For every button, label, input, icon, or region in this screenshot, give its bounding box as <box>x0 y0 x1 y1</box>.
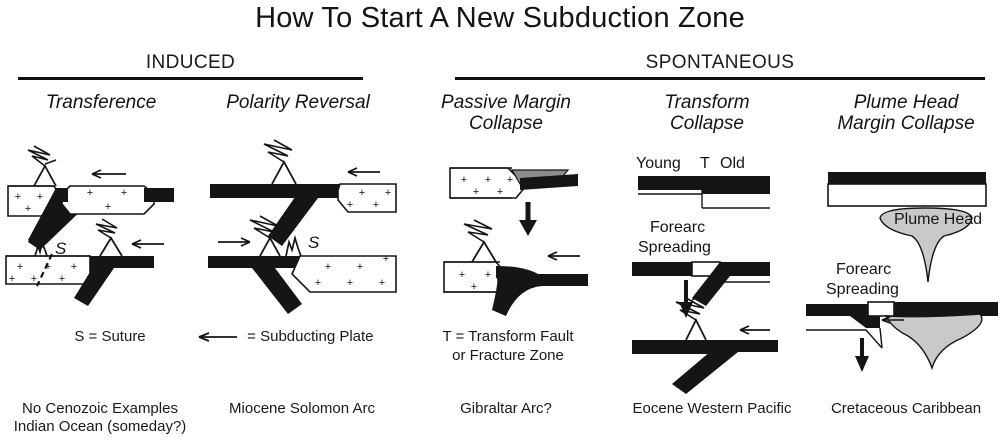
plus-symbol: + <box>37 191 43 203</box>
overriding-plate-right <box>894 302 998 316</box>
subducting-plate-arrow-icon <box>92 170 126 178</box>
volcanic-arc-icon <box>272 162 296 184</box>
column-heading-plume-head-line1: Plume Head <box>812 92 1000 113</box>
column-heading-passive-margin-line1: Passive Margin <box>408 92 604 113</box>
eruption-plume-icon <box>96 219 117 238</box>
passive-margin-stage-2: + + + <box>444 220 588 316</box>
collapse-arrow-icon <box>855 338 869 372</box>
diagram-plume-head-margin-collapse: Plume Head Forearc Spreading <box>812 152 1000 372</box>
category-label-induced: INDUCED <box>18 52 363 74</box>
diagram-transform-collapse: Young T Old Forearc Spreading <box>614 150 810 380</box>
legend-transform-text-line2: or Fracture Zone <box>410 347 606 366</box>
plus-symbol: + <box>347 277 353 289</box>
plus-symbol: + <box>17 261 23 273</box>
plus-symbol: + <box>459 269 465 281</box>
legend-suture-symbol: S <box>74 328 84 345</box>
mantle-lithosphere <box>828 184 986 206</box>
plus-symbol: + <box>59 273 65 285</box>
suture-label: S <box>55 239 67 258</box>
arrow-left-icon <box>195 330 239 344</box>
plus-symbol: + <box>373 199 379 211</box>
transform-collapse-stage-3 <box>632 298 778 394</box>
caption-polarity-reversal-line1: Miocene Solomon Arc <box>204 400 400 418</box>
forearc-label-line2: Spreading <box>826 281 899 298</box>
plus-symbol: + <box>485 174 491 186</box>
lithosphere-plate <box>828 172 986 184</box>
legend-suture-text: = Suture <box>89 328 146 345</box>
plus-symbol: + <box>325 261 331 273</box>
slab-horizontal <box>90 256 154 268</box>
subducting-plate-arrow-icon <box>740 326 770 334</box>
eruption-plume-icon <box>264 140 292 162</box>
collapse-arrow-icon <box>519 202 537 236</box>
forearc-spreading-gap <box>868 302 894 316</box>
slab-edge-line <box>880 328 882 348</box>
column-heading-polarity-reversal-line1: Polarity Reversal <box>205 92 391 113</box>
caption-transference-line1: No Cenozoic Examples <box>2 400 198 418</box>
plume-spread-shape <box>886 314 982 368</box>
plus-symbol: + <box>9 273 15 285</box>
subducting-plate-arrow-icon <box>218 238 250 246</box>
column-heading-transference-line1: Transference <box>8 92 194 113</box>
plus-symbol: + <box>121 187 127 199</box>
plus-symbol: + <box>105 201 111 213</box>
transference-stage-2: S + + + + + + <box>6 219 164 306</box>
suture-label: S <box>308 233 320 252</box>
volcanic-arc-icon <box>34 166 56 186</box>
column-heading-transform-collapse-line1: Transform <box>614 92 800 113</box>
page-title: How To Start A New Subduction Zone <box>0 2 1000 35</box>
plus-symbol: + <box>359 187 365 199</box>
volcanic-arc-icon <box>100 238 122 256</box>
category-label-spontaneous: SPONTANEOUS <box>455 52 985 74</box>
caption-transference-line2: Indian Ocean (someday?) <box>2 418 198 436</box>
category-rule-induced <box>18 77 363 80</box>
plus-symbol: + <box>471 281 477 293</box>
plus-symbol: + <box>379 277 385 289</box>
category-rule-spontaneous <box>455 77 985 80</box>
old-plate <box>702 176 770 194</box>
plus-symbol: + <box>25 203 31 215</box>
transform-collapse-stage-1 <box>638 176 770 208</box>
eruption-plume-icon <box>464 220 492 242</box>
plus-symbol: + <box>87 187 93 199</box>
transform-collapse-stage-2 <box>632 262 770 318</box>
column-heading-passive-margin-line2: Collapse <box>408 113 604 134</box>
plus-symbol: + <box>507 174 513 186</box>
subducting-plate-arrow-icon <box>548 252 580 260</box>
diagram-passive-margin-collapse: + + + + + + + + <box>408 152 608 317</box>
legend-subducting-plate: = Subducting Plate <box>195 328 425 347</box>
new-subducting-slab <box>492 266 588 316</box>
label-old: Old <box>720 155 745 172</box>
plus-symbol: + <box>15 191 21 203</box>
plus-symbol: + <box>385 187 391 199</box>
column-heading-plume-head-line2: Margin Collapse <box>812 113 1000 134</box>
plus-symbol: + <box>497 186 503 198</box>
plus-symbol: + <box>347 199 353 211</box>
forearc-label-line2: Spreading <box>638 239 711 256</box>
polarity-reversal-stage-1: + + + + <box>210 140 396 246</box>
eruption-plume-icon <box>28 146 56 166</box>
plus-symbol: + <box>71 261 77 273</box>
volcanic-arc-icon <box>472 242 496 262</box>
plus-symbol: + <box>45 261 51 273</box>
forearc-label-line1: Forearc <box>836 261 891 278</box>
legend-subducting-plate-text: = Subducting Plate <box>247 328 373 345</box>
slab-segment-right <box>144 188 174 202</box>
label-young: Young <box>636 155 681 172</box>
legend-transform-symbol: T <box>442 328 451 345</box>
legend-suture: S = Suture <box>20 328 200 347</box>
label-transform: T <box>700 155 710 172</box>
plus-symbol: + <box>461 174 467 186</box>
plume-head-label: Plume Head <box>894 211 982 228</box>
volcanic-arc-icon <box>686 320 706 340</box>
column-heading-transform-collapse-line2: Collapse <box>614 113 800 134</box>
diagram-polarity-reversal: + + + + S + + + + + + <box>200 142 400 314</box>
forearc-label-line1: Forearc <box>650 219 705 236</box>
subducting-plate-arrow-icon <box>132 240 164 248</box>
legend-transform-text: = Transform Fault <box>456 328 574 345</box>
caption-plume-head-line1: Cretaceous Caribbean <box>812 400 1000 418</box>
plus-symbol: + <box>315 277 321 289</box>
slab-base-line <box>806 330 882 348</box>
plume-stage-2 <box>806 302 998 372</box>
plus-symbol: + <box>473 186 479 198</box>
young-plate <box>632 262 692 276</box>
plus-symbol: + <box>357 261 363 273</box>
caption-transform-collapse-line1: Eocene Western Pacific <box>612 400 812 418</box>
diagram-transference: + + + + + + S + + <box>4 142 200 312</box>
transference-stage-1: + + + + + + <box>8 146 174 250</box>
young-plate <box>638 176 702 190</box>
polarity-reversal-stage-2: S + + + + + + <box>208 216 396 314</box>
legend-transform-fault: T = Transform Fault or Fracture Zone <box>410 328 606 366</box>
plus-symbol: + <box>383 253 389 265</box>
plus-symbol: + <box>485 269 491 281</box>
plus-symbol: + <box>31 273 37 285</box>
subducting-plate-arrow-icon <box>348 168 380 176</box>
caption-passive-margin-line1: Gibraltar Arc? <box>408 400 604 418</box>
extinct-arc-icon <box>286 238 301 256</box>
